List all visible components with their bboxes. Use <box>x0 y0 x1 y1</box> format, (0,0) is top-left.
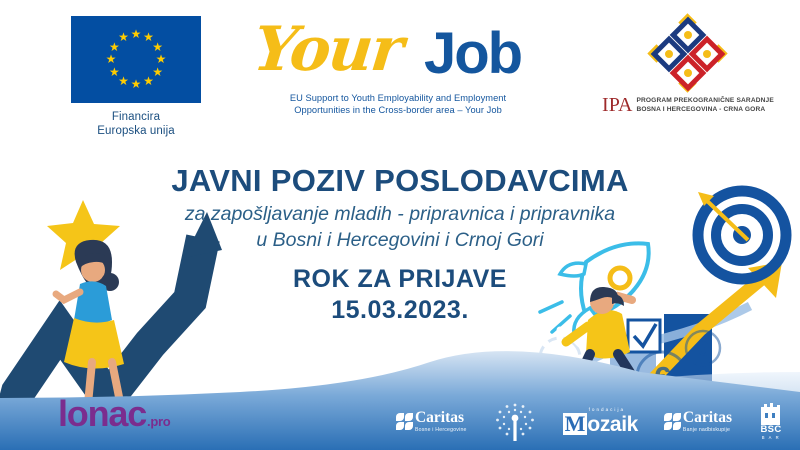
partner-tagline: Bosne i Hercegovine <box>415 427 467 434</box>
deadline-date: 15.03.2023. <box>0 294 800 326</box>
bsc-sub: B A R <box>762 435 780 441</box>
mozaik-m-letter: M <box>563 413 588 435</box>
partner-caritas-banjaluka: Caritas Banje nadbiskupije <box>664 409 732 434</box>
lonac-suffix: .pro <box>147 414 170 429</box>
subtitle-line-2: u Bosni i Hercegovini i Crnoj Gori <box>0 227 800 253</box>
bsc-wordmark: BSC <box>761 425 782 435</box>
headline-block: JAVNI POZIV POSLODAVCIMA za zapošljavanj… <box>0 163 800 326</box>
lonac-wordmark: lonac <box>58 396 146 432</box>
partner-dandelion <box>493 399 537 443</box>
deadline-label: ROK ZA PRIJAVE <box>0 264 800 294</box>
mozaik-wordmark: ozaik <box>587 414 638 436</box>
partner-name: Caritas <box>415 409 464 426</box>
partner-name: Caritas <box>683 409 732 426</box>
partner-tagline: Banje nadbiskupije <box>683 427 732 434</box>
lonac-logo[interactable]: lonac .pro <box>58 396 170 432</box>
poster-canvas: € € <box>0 0 800 450</box>
caritas-flame-icon <box>396 413 413 430</box>
page-title: JAVNI POZIV POSLODAVCIMA <box>0 163 800 199</box>
subtitle-line-1: za zapošljavanje mladih - pripravnica i … <box>0 201 800 227</box>
partner-bsc: BSC B A R <box>758 401 784 441</box>
partner-mozaik: fondacija Mozaik <box>563 407 638 436</box>
svg-text:€: € <box>697 338 709 361</box>
caritas-flame-icon <box>664 413 681 430</box>
partner-caritas-bih: Caritas Bosne i Hercegovine <box>396 409 467 434</box>
bsc-tower-icon <box>758 401 784 425</box>
dandelion-circle-icon <box>493 399 537 443</box>
